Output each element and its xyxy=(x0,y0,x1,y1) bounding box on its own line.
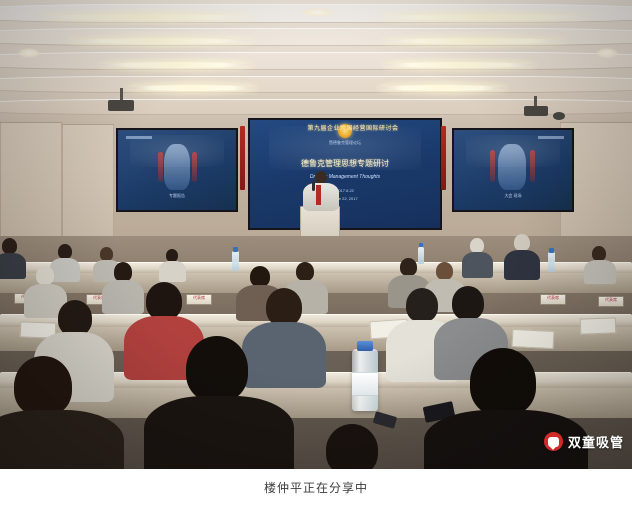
watermark-brand: 双童吸管 xyxy=(568,432,624,451)
audience-body xyxy=(504,250,540,280)
nameplate-label: 代表席 xyxy=(187,295,211,301)
audience-head xyxy=(470,238,484,253)
nameplate-label: 代表席 xyxy=(541,295,565,301)
audience-body xyxy=(242,322,326,388)
audience-head xyxy=(452,286,484,320)
conference-room-photo: 专题报告 大会 现场 第九届企业跨国经营国际研讨会 暨德鲁克管理论坛 德鲁克管理… xyxy=(0,0,632,469)
foreground-audience-head xyxy=(14,356,72,416)
foreground-audience-head xyxy=(186,336,248,402)
screen-date-cn: 2017.6.22 xyxy=(250,188,440,193)
slide-text-line xyxy=(538,136,564,139)
audience-body xyxy=(0,253,26,279)
caption-bar: 楼仲平正在分享中 xyxy=(0,469,632,506)
side-screen-right: 大会 现场 xyxy=(452,128,574,212)
audience-body xyxy=(102,280,144,314)
audience-head xyxy=(436,262,453,280)
nameplate-label: 代表席 xyxy=(599,297,623,303)
audience-head xyxy=(114,262,132,282)
audience-head xyxy=(58,300,92,336)
bottle-cap xyxy=(419,243,423,247)
slide-accent-bar xyxy=(158,152,163,182)
screen-topic-title: 德鲁克管理思想专题研讨 xyxy=(250,158,440,169)
side-screen-left: 专题报告 xyxy=(116,128,238,212)
foreground-audience-body xyxy=(144,396,294,469)
screen-forum-subtitle: 暨德鲁克管理论坛 xyxy=(250,140,440,146)
audience-head xyxy=(296,262,314,281)
screen-topic-title-en: Drucker Management Thoughts xyxy=(250,174,440,180)
side-screen-right-caption: 大会 现场 xyxy=(454,193,572,199)
large-bottle-label xyxy=(352,372,378,396)
ceiling-light-strip xyxy=(380,85,505,91)
paper-sheet xyxy=(512,329,555,349)
audience-head xyxy=(266,288,302,326)
wall-panel xyxy=(0,122,62,244)
audience-body xyxy=(50,258,80,282)
nameplate: 代表席 xyxy=(186,294,212,305)
audience-head xyxy=(58,244,72,259)
foreground-audience-body xyxy=(0,410,124,469)
projector xyxy=(108,100,134,111)
speaker-necktie xyxy=(316,185,321,205)
banner-right xyxy=(441,126,446,190)
audience-head xyxy=(100,247,113,261)
side-screen-left-caption: 专题报告 xyxy=(118,193,236,199)
audience-head xyxy=(406,288,438,322)
ceiling-band xyxy=(0,52,632,70)
slide-accent-bar xyxy=(530,150,535,182)
slide-text-line xyxy=(126,136,152,139)
banner-left xyxy=(240,126,245,190)
ceiling-light-strip xyxy=(380,14,590,20)
main-presentation-screen: 第九届企业跨国经营国际研讨会 暨德鲁克管理论坛 德鲁克管理思想专题研讨 Druc… xyxy=(248,118,442,230)
ceiling-band xyxy=(0,76,632,93)
audience-head xyxy=(514,234,530,251)
ceiling-light-strip xyxy=(40,14,250,20)
paper-sheet xyxy=(580,317,617,334)
screenshot-root: 专题报告 大会 现场 第九届企业跨国经营国际研讨会 暨德鲁克管理论坛 德鲁克管理… xyxy=(0,0,632,506)
audience-body xyxy=(462,252,493,278)
screen-date-en: June 22, 2017 xyxy=(250,196,440,201)
bottle-cap xyxy=(233,247,238,252)
ceiling-speaker xyxy=(553,112,565,120)
audience-head xyxy=(2,238,17,254)
slide-figure-graphic xyxy=(498,144,526,190)
audience-head xyxy=(400,258,417,276)
wechat-badge-icon xyxy=(544,432,563,451)
watermark: 双童吸管 xyxy=(544,432,624,451)
ceiling-downlight xyxy=(18,48,40,58)
water-bottle xyxy=(418,247,424,264)
photo-caption: 楼仲平正在分享中 xyxy=(264,479,368,496)
audience-head xyxy=(36,266,54,285)
foreground-audience-head xyxy=(470,348,536,416)
foreground-audience-head xyxy=(326,424,378,469)
slide-figure-graphic xyxy=(164,144,190,190)
microphone xyxy=(312,181,315,191)
ceiling-light-strip xyxy=(130,85,255,91)
projector xyxy=(524,106,548,116)
screen-conference-title: 第九届企业跨国经营国际研讨会 xyxy=(250,123,440,132)
slide-accent-bar xyxy=(192,152,197,182)
audience-head xyxy=(146,282,182,320)
ceiling-light-strip xyxy=(385,62,535,68)
audience-body xyxy=(159,261,186,282)
large-bottle-cap xyxy=(357,341,373,351)
nameplate: 代表席 xyxy=(598,296,624,307)
water-bottle xyxy=(232,251,239,271)
ceiling-downlight xyxy=(596,48,618,58)
nameplate: 代表席 xyxy=(540,294,566,305)
speaker-body xyxy=(303,183,339,211)
audience-head xyxy=(250,266,270,287)
slide-accent-bar xyxy=(490,150,495,182)
audience-head xyxy=(592,246,606,261)
ceiling-light-strip xyxy=(100,62,250,68)
ceiling xyxy=(0,0,632,130)
ceiling-light-strip xyxy=(385,38,565,44)
audience-body xyxy=(584,260,616,284)
ceiling-downlight xyxy=(300,8,334,17)
bottle-cap xyxy=(549,248,554,253)
wall-panel xyxy=(62,124,114,242)
water-bottle xyxy=(548,252,555,272)
ceiling-light-strip xyxy=(70,38,250,44)
ceiling-band xyxy=(0,28,632,46)
